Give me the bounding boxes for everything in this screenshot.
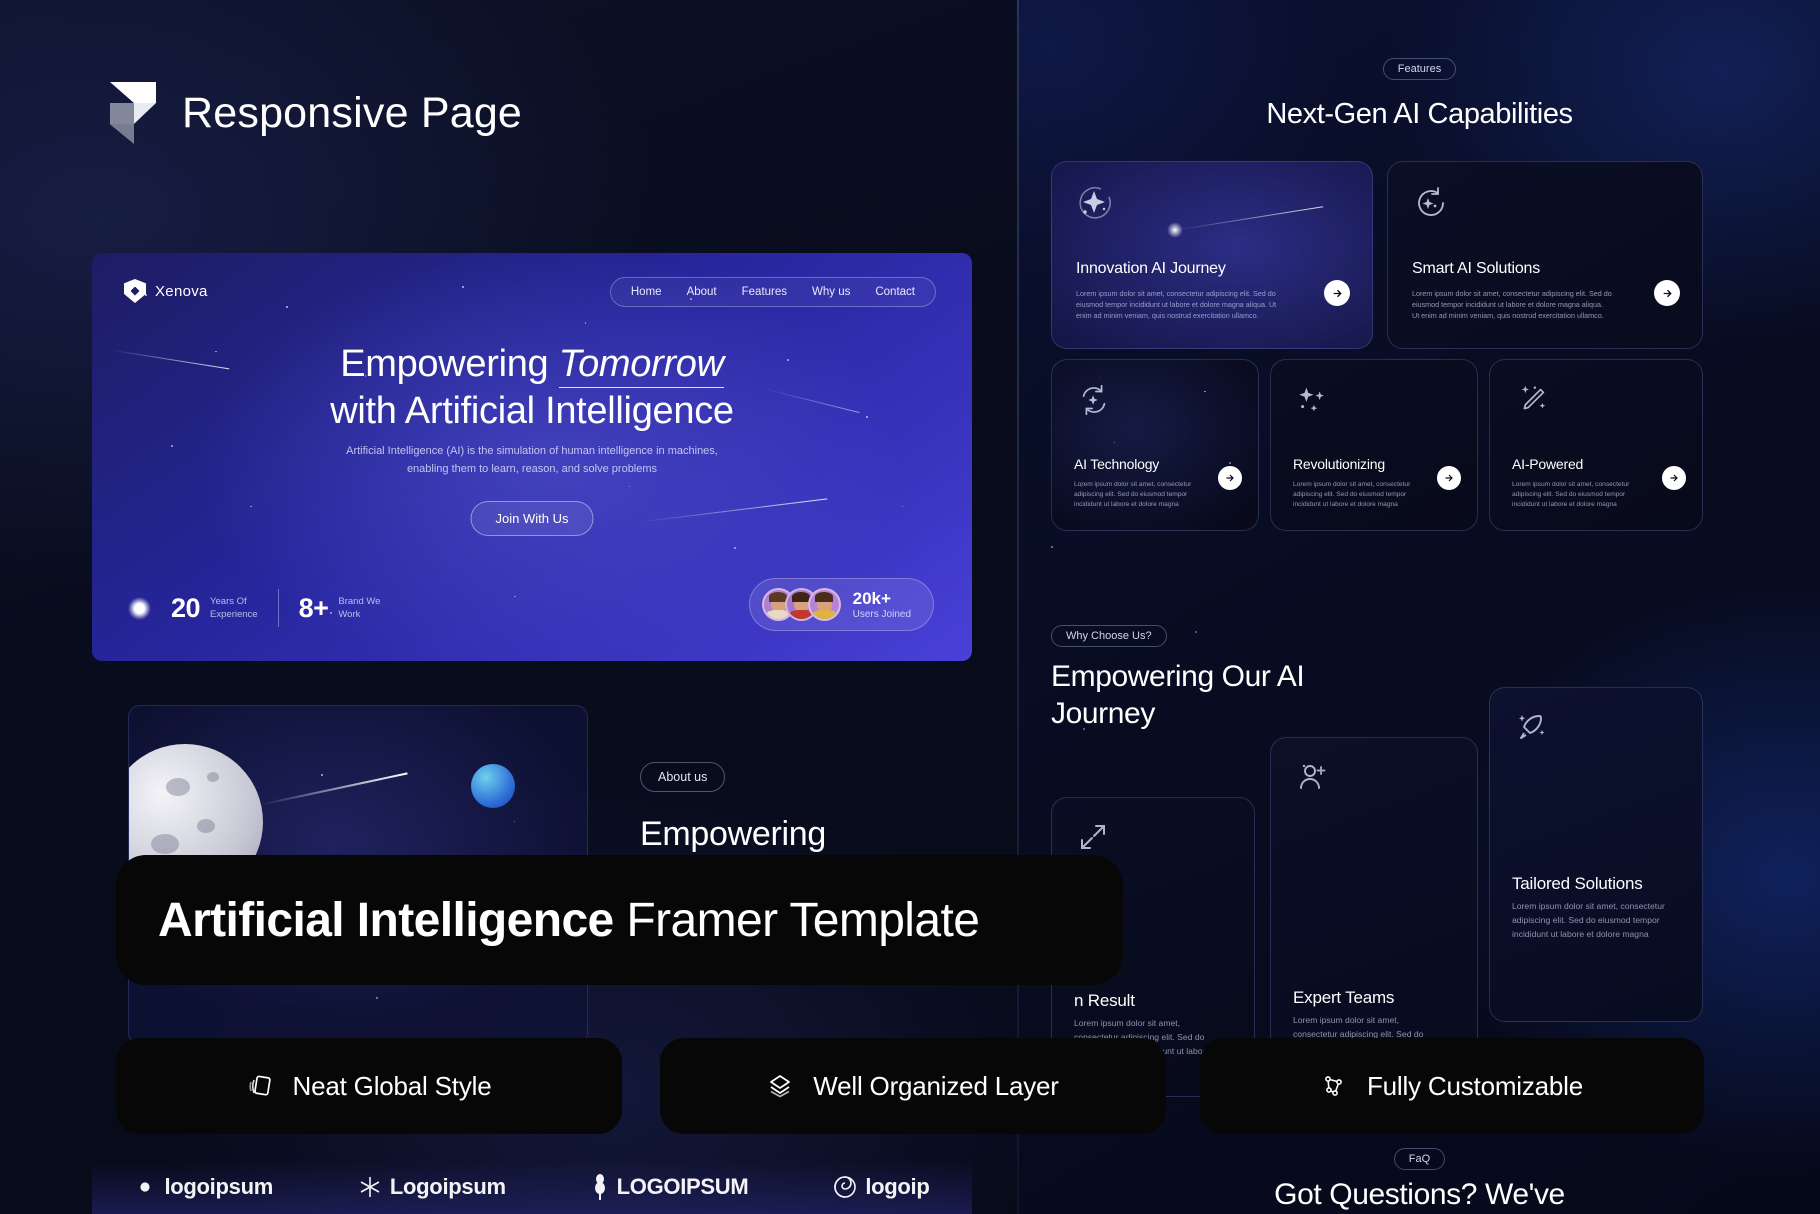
client-logo-strip: logoipsum Logoipsum LOGOIPSUM [92,1160,972,1214]
join-with-us-button[interactable]: Join With Us [471,501,594,536]
features-badge-wrap: Features [1019,58,1820,80]
feature-card-title: Revolutionizing [1293,456,1385,472]
why-card-body: Lorem ipsum dolor sit amet, consectetur … [1512,900,1672,941]
avatar-group [762,588,841,621]
headline-part-2: with Artificial Intelligence [330,390,733,432]
about-heading: Empowering [640,815,826,854]
feature-card-title: Smart AI Solutions [1412,260,1540,278]
faq-badge-wrap: FaQ [1019,1148,1820,1170]
feature-card-body: Lorem ipsum dolor sit amet, consectetur … [1076,288,1281,321]
asterisk-icon [358,1175,382,1199]
stat-label: Years Of Experience [210,595,258,621]
hero-subtext-line-1: Artificial Intelligence (AI) is the simu… [346,445,718,457]
stat-label: Brand We Work [338,595,380,621]
feature-pill-well-organized-layer[interactable]: Well Organized Layer [660,1038,1166,1134]
hero-brand-logo[interactable]: Xenova [124,279,208,303]
avatar [808,588,841,621]
feature-card-body: Lorem ipsum dolor sit amet, consectetur … [1293,480,1421,511]
stat-number: 20 [171,593,200,624]
nav-item-features[interactable]: Features [742,286,787,298]
about-text-block: About us Empowering [640,762,826,854]
hero-subtext-line-2: enabling them to learn, reason, and solv… [407,463,657,475]
hero-section-mock: Xenova Home About Features Why us Contac… [92,253,972,661]
nav-item-home[interactable]: Home [631,286,662,298]
feature-card-title: AI-Powered [1512,456,1583,472]
shield-icon [124,279,146,303]
feature-pill-label: Fully Customizable [1367,1071,1583,1102]
refresh-sparkle-icon [1412,184,1450,222]
nav-item-about[interactable]: About [687,286,717,298]
features-badge: Features [1383,58,1456,80]
why-card-tailored-solutions[interactable]: Tailored Solutions Lorem ipsum dolor sit… [1489,687,1703,1022]
stat-number: 8+ [299,593,329,624]
faq-title: Got Questions? We've [1019,1178,1820,1212]
feature-card-body: Lorem ipsum dolor sit amet, consectetur … [1412,288,1612,321]
why-card-title: Tailored Solutions [1512,874,1643,894]
hero-subtext: Artificial Intelligence (AI) is the simu… [92,443,972,479]
page-header: Responsive Page [110,82,522,144]
feature-card-arrow-button[interactable] [1654,280,1680,306]
feature-pill-neat-global-style[interactable]: Neat Global Style [116,1038,622,1134]
spiral-icon [833,1175,857,1199]
why-title-line-1: Empowering Our AI [1051,660,1304,693]
rocket-sparkle-icon [1514,710,1552,748]
stat-years-experience: 20 Years Of Experience [171,593,258,624]
faq-badge: FaQ [1394,1148,1445,1170]
expand-arrows-icon [1076,820,1114,858]
headline-emphasis: Tomorrow [559,343,724,388]
why-choose-us-badge: Why Choose Us? [1051,625,1167,647]
users-joined-badge: 20k+ Users Joined [749,578,934,631]
sync-sparkle-icon [1076,382,1114,420]
overlay-regular-text: Framer Template [614,894,980,947]
wheat-icon [591,1174,609,1200]
feature-card-ai-powered[interactable]: AI-Powered Lorem ipsum dolor sit amet, c… [1489,359,1703,531]
features-title: Next-Gen AI Capabilities [1019,98,1820,131]
hero-stats: 20 Years Of Experience 8+ Brand We Work [128,589,380,627]
logoipsum-mark-icon [134,1176,156,1198]
feature-card-arrow-button[interactable] [1437,466,1461,490]
about-us-badge: About us [640,762,725,792]
user-plus-icon [1295,760,1333,798]
feature-card-title: Innovation AI Journey [1076,260,1226,278]
screenshot-root: Responsive Page [0,0,1820,1214]
hero-headline: Empowering Tomorrow with Artificial Inte… [92,341,972,435]
logo-item: LOGOIPSUM [591,1174,749,1200]
stat-divider [278,589,279,627]
feature-card-arrow-button[interactable] [1662,466,1686,490]
feature-card-body: Lorem ipsum dolor sit amet, consectetur … [1074,480,1202,511]
users-count: 20k+ [853,589,911,609]
overlay-banner: Artificial Intelligence Framer Template [116,855,1123,985]
users-label: Users Joined [853,609,911,620]
feature-card-ai-technology[interactable]: AI Technology Lorem ipsum dolor sit amet… [1051,359,1259,531]
why-card-title: n Result [1074,991,1135,1011]
feature-card-title: AI Technology [1074,456,1159,472]
feature-pill-fully-customizable[interactable]: Fully Customizable [1200,1038,1704,1134]
glow-dot-icon [128,597,151,620]
sparkles-icon [1295,382,1333,420]
feature-card-arrow-button[interactable] [1324,280,1350,306]
magic-wand-icon [1514,382,1552,420]
why-card-title: Expert Teams [1293,988,1394,1008]
feature-card-revolutionizing[interactable]: Revolutionizing Lorem ipsum dolor sit am… [1270,359,1478,531]
feature-card-body: Lorem ipsum dolor sit amet, consectetur … [1512,480,1640,511]
why-title-line-2: Journey [1051,697,1155,730]
feature-card-innovation[interactable]: Innovation AI Journey Lorem ipsum dolor … [1051,161,1373,349]
layers-icon [767,1073,793,1099]
left-preview-panel: Responsive Page [0,0,1018,1214]
planet-graphic [471,764,515,808]
feature-pill-label: Neat Global Style [293,1071,492,1102]
why-choose-us-badge-wrap: Why Choose Us? [1051,625,1167,647]
nav-item-why-us[interactable]: Why us [812,286,850,298]
headline-part-1: Empowering [340,343,558,385]
nav-item-contact[interactable]: Contact [875,286,915,298]
logo-item: Logoipsum [358,1174,506,1200]
logo-item: logoipsum [134,1174,273,1200]
page-title: Responsive Page [182,89,522,138]
nodes-shape-icon [1321,1073,1347,1099]
hero-navigation[interactable]: Home About Features Why us Contact [610,277,936,307]
sparkle-circle-icon [1076,184,1114,222]
logo-item: logoip [833,1174,929,1200]
overlay-banner-text: Artificial Intelligence Framer Template [158,893,979,948]
stacked-cards-icon [247,1073,273,1099]
feature-card-arrow-button[interactable] [1218,466,1242,490]
feature-card-smart-solutions[interactable]: Smart AI Solutions Lorem ipsum dolor sit… [1387,161,1703,349]
overlay-bold-text: Artificial Intelligence [158,894,614,947]
why-section-title: Empowering Our AI Journey [1051,658,1381,732]
stat-brands-worked: 8+ Brand We Work [299,593,381,624]
framer-logo-icon [110,82,156,144]
feature-pill-label: Well Organized Layer [813,1071,1059,1102]
hero-brand-label: Xenova [155,283,208,300]
